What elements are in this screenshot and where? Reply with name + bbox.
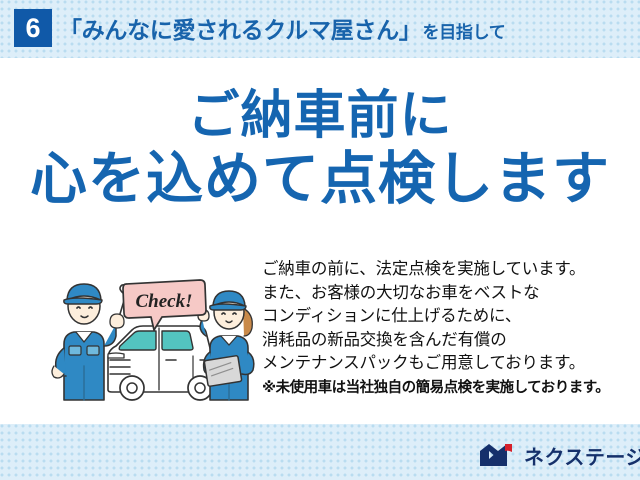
header-title-suffix: を目指して <box>422 18 506 43</box>
nexstage-n-mark-icon <box>478 442 518 468</box>
body-line: ご納車の前に、法定点検を実施しています。 <box>262 258 622 282</box>
body-line: コンディションに仕上げるために、 <box>262 305 622 329</box>
advertisement-page: 6 「みんなに愛されるクルマ屋さん」 を目指して ご納車前に 心を込めて点検しま… <box>0 0 640 480</box>
section-number-badge: 6 <box>14 9 52 47</box>
header-title: 「みんなに愛されるクルマ屋さん」 を目指して <box>59 11 506 47</box>
mechanics-illustration: Check! <box>50 262 260 402</box>
body-line: また、お客様の大切なお車をベストな <box>262 282 622 306</box>
headline-line-2: 心を込めて点検します <box>0 149 640 211</box>
body-footnote: ※未使用車は当社独自の簡易点検を実施しております。 <box>262 378 622 399</box>
header-title-quoted: 「みんなに愛されるクルマ屋さん」 <box>59 11 422 45</box>
mechanics-illustration-svg: Check! <box>50 262 260 402</box>
body-text-block: ご納車の前に、法定点検を実施しています。 また、お客様の大切なお車をベストな コ… <box>262 258 622 399</box>
body-line: 消耗品の新品交換を含んだ有償の <box>262 329 622 353</box>
check-bubble-label: Check! <box>136 291 193 312</box>
headline: ご納車前に 心を込めて点検します <box>0 88 640 211</box>
nexstage-logo-text: ネクステージ <box>518 441 640 470</box>
nexstage-logo: ネクステージ <box>478 440 640 470</box>
van-graphic <box>108 326 212 400</box>
body-line: メンテナンスパックもご用意しております。 <box>262 352 622 376</box>
headline-line-1: ご納車前に <box>0 88 640 144</box>
